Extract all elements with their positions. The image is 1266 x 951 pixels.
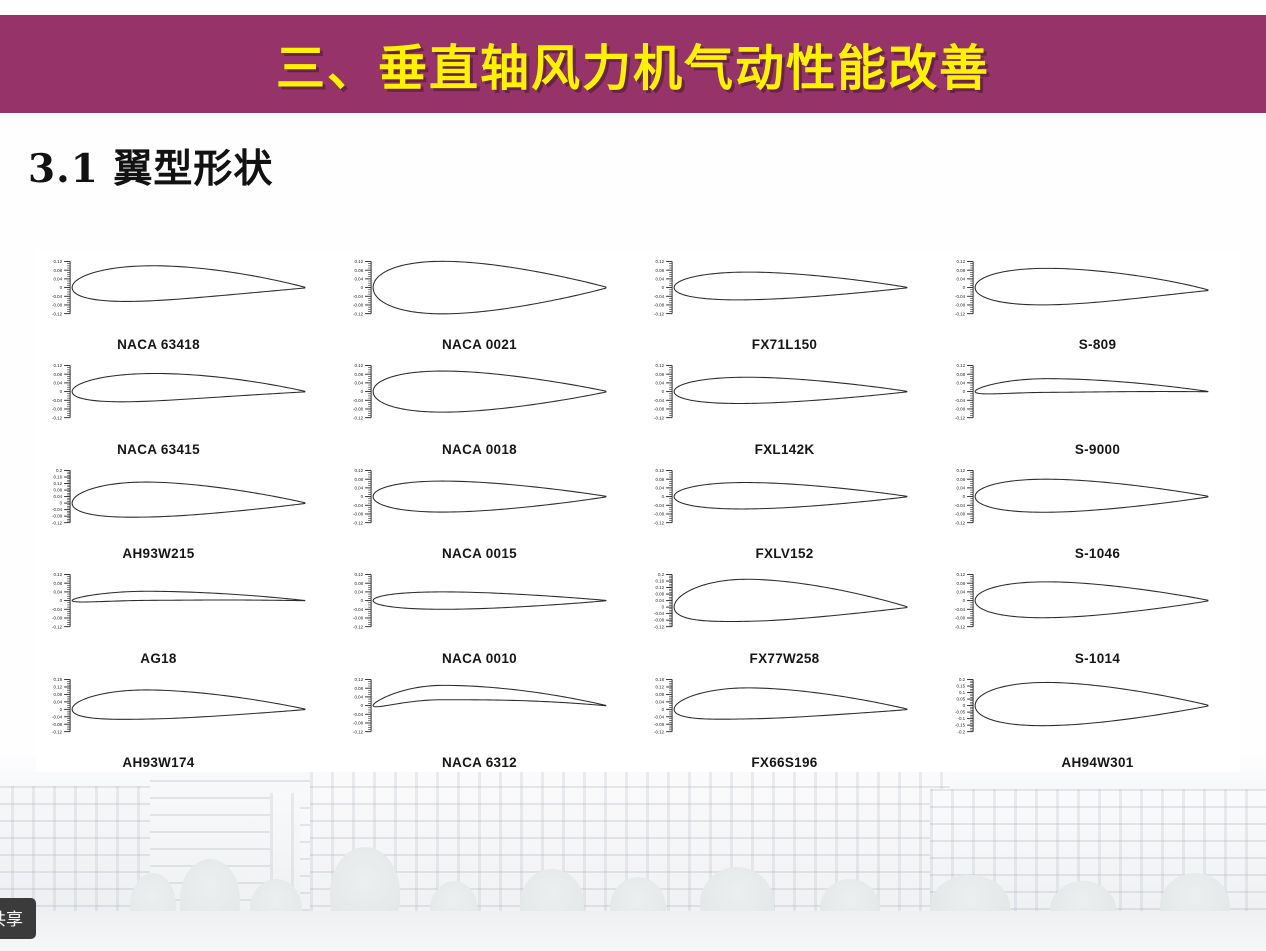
y-axis-tick-label: 0.12 <box>656 585 665 590</box>
y-axis-tick-label: 0.2 <box>959 677 966 682</box>
airfoil-label: NACA 0015 <box>329 546 630 561</box>
airfoil-cell: 0.160.120.080.040-0.04-0.08-0.12AH93W174 <box>36 668 337 772</box>
airfoil-label: NACA 0010 <box>329 651 630 666</box>
y-axis-tick-label: -0.08 <box>52 407 63 412</box>
y-axis-tick-label: 0 <box>963 285 966 290</box>
y-axis-tick-label: -0.04 <box>353 398 364 403</box>
y-axis-tick-label: -0.12 <box>353 520 364 525</box>
airfoil-cell: 0.20.160.120.080.040-0.04-0.08-0.12AH93W… <box>36 459 337 563</box>
y-axis-tick-label: -0.12 <box>52 311 63 316</box>
y-axis-tick-label: 0.08 <box>957 477 966 482</box>
y-axis-tick-label: -0.08 <box>353 407 364 412</box>
y-axis-tick-label: -0.12 <box>353 729 364 734</box>
y-axis-tick-label: -0.08 <box>955 616 966 621</box>
airfoil-cell: 0.120.080.040-0.04-0.08-0.12NACA 63415 <box>36 354 337 458</box>
y-axis-tick-label: 0.08 <box>957 581 966 586</box>
airfoil-profile-plot: 0.120.080.040-0.04-0.08-0.12 <box>939 563 1240 638</box>
y-axis-tick-label: 0.12 <box>54 259 63 264</box>
y-axis-tick-label: -0.12 <box>52 624 63 629</box>
y-axis-tick-label: 0 <box>361 285 364 290</box>
y-axis-tick-label: 0.08 <box>656 372 665 377</box>
y-axis-tick-label: 0.2 <box>658 572 665 577</box>
y-axis-tick-label: 0.04 <box>957 485 966 490</box>
y-axis-tick-label: -0.12 <box>654 729 665 734</box>
y-axis-tick-label: -0.08 <box>52 721 63 726</box>
airfoil-outline <box>975 682 1208 725</box>
y-axis-tick-label: 0.08 <box>355 268 364 273</box>
y-axis-tick-label: -0.08 <box>353 511 364 516</box>
y-axis-tick-label: -0.12 <box>353 624 364 629</box>
y-axis-tick-label: 0 <box>60 598 63 603</box>
y-axis-tick-label: 0.04 <box>54 494 63 499</box>
y-axis-tick-label: 0.08 <box>355 372 364 377</box>
y-axis-tick-label: 0.12 <box>355 259 364 264</box>
y-axis-tick-label: -0.08 <box>52 616 63 621</box>
airfoil-cell: 0.120.080.040-0.04-0.08-0.12NACA 0010 <box>337 563 638 667</box>
y-axis-tick-label: 0.08 <box>54 487 63 492</box>
y-axis-tick-label: 0.04 <box>656 598 665 603</box>
y-axis-tick-label: -0.04 <box>654 398 665 403</box>
y-axis-tick-label: 0.15 <box>957 683 966 688</box>
y-axis-tick-label: -0.04 <box>52 607 63 612</box>
airfoil-outline <box>975 379 1208 394</box>
y-axis-tick-label: 0 <box>60 501 63 506</box>
airfoil-outline <box>975 268 1208 305</box>
airfoil-profile-plot: 0.120.080.040-0.04-0.08-0.12 <box>337 563 638 638</box>
y-axis-tick-label: -0.12 <box>654 311 665 316</box>
airfoil-cell: 0.20.150.10.050-0.05-0.1-0.15-0.2AH94W30… <box>939 668 1240 772</box>
y-axis-tick-label: 0.2 <box>56 468 63 473</box>
y-axis-tick-label: 0 <box>361 598 364 603</box>
y-axis-tick-label: -0.08 <box>654 407 665 412</box>
slide-header-bar: 三、垂直轴风力机气动性能改善 <box>0 15 1266 113</box>
y-axis-tick-label: 0.04 <box>957 276 966 281</box>
y-axis-tick-label: -0.12 <box>52 520 63 525</box>
y-axis-tick-label: 0.12 <box>656 363 665 368</box>
airfoil-profile-plot: 0.120.080.040-0.04-0.08-0.12 <box>939 250 1240 325</box>
y-axis-tick-label: -0.12 <box>654 520 665 525</box>
airfoil-cell: 0.120.080.040-0.04-0.08-0.12NACA 63418 <box>36 250 337 354</box>
airfoil-outline <box>373 261 606 314</box>
y-axis-tick-label: -0.1 <box>957 716 965 721</box>
y-axis-tick-label: -0.12 <box>353 416 364 421</box>
y-axis-tick-label: 0.05 <box>957 696 966 701</box>
section-heading: 3.1 翼型形状 <box>28 138 273 194</box>
airfoil-profile-plot: 0.120.080.040-0.04-0.08-0.12 <box>939 459 1240 534</box>
airfoil-cell: 0.120.080.040-0.04-0.08-0.12NACA 0021 <box>337 250 638 354</box>
y-axis-tick-label: 0.08 <box>54 581 63 586</box>
airfoil-label: NACA 0021 <box>329 337 630 352</box>
y-axis-tick-label: 0.08 <box>656 692 665 697</box>
airfoil-profile-plot: 0.120.080.040-0.04-0.08-0.12 <box>638 354 939 429</box>
y-axis-tick-label: 0.08 <box>656 592 665 597</box>
y-axis-tick-label: -0.08 <box>654 618 665 623</box>
airfoil-outline <box>674 378 907 404</box>
y-axis-tick-label: -0.04 <box>654 503 665 508</box>
y-axis-tick-label: -0.04 <box>654 294 665 299</box>
y-axis-tick-label: -0.04 <box>955 398 966 403</box>
airfoil-label: S-809 <box>947 337 1248 352</box>
y-axis-tick-label: 0.12 <box>957 468 966 473</box>
airfoil-label: FX71L150 <box>634 337 935 352</box>
y-axis-tick-label: 0.08 <box>957 372 966 377</box>
slide-canvas: 三、垂直轴风力机气动性能改善 3.1 翼型形状 0.120.080.040-0.… <box>0 0 1266 951</box>
y-axis-tick-label: 0.08 <box>355 581 364 586</box>
y-axis-tick-label: 0.12 <box>355 677 364 682</box>
airfoil-cell: 0.120.080.040-0.04-0.08-0.12FXL142K <box>638 354 939 458</box>
y-axis-tick-label: -0.08 <box>52 303 63 308</box>
y-axis-tick-label: -0.04 <box>353 711 364 716</box>
airfoil-profile-plot: 0.20.150.10.050-0.05-0.1-0.15-0.2 <box>939 668 1240 743</box>
airfoil-outline <box>373 481 606 512</box>
y-axis-tick-label: 0 <box>60 390 63 395</box>
y-axis-tick-label: 0.12 <box>656 259 665 264</box>
airfoil-label: AH93W215 <box>8 546 309 561</box>
y-axis-tick-label: 0.04 <box>54 276 63 281</box>
y-axis-tick-label: 0.08 <box>54 692 63 697</box>
airfoil-profile-plot: 0.20.160.120.080.040-0.04-0.08-0.12 <box>36 459 337 534</box>
y-axis-tick-label: -0.04 <box>654 714 665 719</box>
y-axis-tick-label: 0.12 <box>355 363 364 368</box>
y-axis-tick-label: 0.12 <box>54 363 63 368</box>
airfoil-label: S-1014 <box>947 651 1248 666</box>
airfoil-cell: 0.120.080.040-0.04-0.08-0.12NACA 0015 <box>337 459 638 563</box>
y-axis-tick-label: 0.16 <box>656 579 665 584</box>
airfoil-profile-plot: 0.160.120.080.040-0.04-0.08-0.12 <box>36 668 337 743</box>
y-axis-tick-label: 0 <box>361 390 364 395</box>
y-axis-tick-label: -0.12 <box>955 624 966 629</box>
screen-share-notice: 电的屏幕共享 <box>0 898 36 939</box>
y-axis-tick-label: -0.12 <box>654 416 665 421</box>
y-axis-tick-label: -0.08 <box>353 616 364 621</box>
y-axis-tick-label: 0.04 <box>355 485 364 490</box>
y-axis-tick-label: 0 <box>662 707 665 712</box>
airfoil-cell: 0.120.080.040-0.04-0.08-0.12S-9000 <box>939 354 1240 458</box>
airfoil-cell: 0.120.080.040-0.04-0.08-0.12S-1046 <box>939 459 1240 563</box>
airfoil-outline <box>674 272 907 300</box>
page-title: 三、垂直轴风力机气动性能改善 <box>276 29 990 100</box>
airfoil-profile-plot: 0.120.080.040-0.04-0.08-0.12 <box>337 354 638 429</box>
y-axis-tick-label: -0.08 <box>654 721 665 726</box>
y-axis-tick-label: -0.04 <box>52 294 63 299</box>
y-axis-tick-label: 0.04 <box>355 276 364 281</box>
y-axis-tick-label: -0.08 <box>353 303 364 308</box>
y-axis-tick-label: -0.08 <box>955 511 966 516</box>
y-axis-tick-label: -0.08 <box>654 511 665 516</box>
y-axis-tick-label: 0.12 <box>656 684 665 689</box>
airfoil-outline <box>674 687 907 718</box>
airfoil-cell: 0.120.080.040-0.04-0.08-0.12FXLV152 <box>638 459 939 563</box>
y-axis-tick-label: 0.08 <box>355 685 364 690</box>
y-axis-tick-label: 0 <box>662 605 665 610</box>
airfoil-outline <box>975 479 1208 512</box>
y-axis-tick-label: 0 <box>963 703 966 708</box>
y-axis-tick-label: -0.04 <box>955 294 966 299</box>
airfoil-label: S-9000 <box>947 442 1248 457</box>
airfoil-label: NACA 0018 <box>329 442 630 457</box>
airfoil-profile-plot: 0.160.120.080.040-0.04-0.08-0.12 <box>638 668 939 743</box>
y-axis-tick-label: -0.12 <box>353 311 364 316</box>
y-axis-tick-label: 0.08 <box>656 268 665 273</box>
airfoil-outline <box>373 371 606 412</box>
y-axis-tick-label: -0.04 <box>52 507 63 512</box>
airfoil-cell: 0.120.080.040-0.04-0.08-0.12NACA 6312 <box>337 668 638 772</box>
y-axis-tick-label: 0 <box>662 494 665 499</box>
airfoil-cell: 0.160.120.080.040-0.04-0.08-0.12FX66S196 <box>638 668 939 772</box>
y-axis-tick-label: -0.12 <box>52 729 63 734</box>
y-axis-tick-label: -0.08 <box>654 303 665 308</box>
y-axis-tick-label: -0.04 <box>52 714 63 719</box>
y-axis-tick-label: 0.12 <box>656 468 665 473</box>
airfoil-outline <box>373 685 606 706</box>
y-axis-tick-label: 0.12 <box>54 481 63 486</box>
y-axis-tick-label: 0.04 <box>355 381 364 386</box>
y-axis-tick-label: 0 <box>963 390 966 395</box>
airfoil-label: NACA 6312 <box>329 755 630 770</box>
y-axis-tick-label: -0.04 <box>654 611 665 616</box>
y-axis-tick-label: -0.04 <box>955 607 966 612</box>
y-axis-tick-label: -0.04 <box>353 294 364 299</box>
y-axis-tick-label: 0.04 <box>656 276 665 281</box>
airfoil-profile-plot: 0.120.080.040-0.04-0.08-0.12 <box>337 250 638 325</box>
y-axis-tick-label: 0.08 <box>54 268 63 273</box>
y-axis-tick-label: -0.12 <box>955 416 966 421</box>
airfoil-label: AG18 <box>8 651 309 666</box>
y-axis-tick-label: 0 <box>963 494 966 499</box>
y-axis-tick-label: -0.08 <box>955 407 966 412</box>
y-axis-tick-label: 0 <box>963 598 966 603</box>
airfoil-outline <box>72 266 305 302</box>
y-axis-tick-label: 0.16 <box>656 677 665 682</box>
y-axis-tick-label: -0.12 <box>955 311 966 316</box>
airfoil-label: AH93W174 <box>8 755 309 770</box>
airfoil-profile-plot: 0.120.080.040-0.04-0.08-0.12 <box>638 250 939 325</box>
y-axis-tick-label: 0.12 <box>957 572 966 577</box>
airfoil-label: FX77W258 <box>634 651 935 666</box>
airfoil-outline <box>72 591 305 602</box>
airfoil-outline <box>72 374 305 402</box>
ground-band <box>0 911 1266 951</box>
airfoil-profile-plot: 0.120.080.040-0.04-0.08-0.12 <box>36 354 337 429</box>
y-axis-tick-label: -0.04 <box>955 503 966 508</box>
y-axis-tick-label: 0 <box>662 285 665 290</box>
airfoil-outline <box>72 482 305 517</box>
airfoil-grid: 0.120.080.040-0.04-0.08-0.12NACA 634180.… <box>36 250 1240 772</box>
y-axis-tick-label: -0.08 <box>353 720 364 725</box>
y-axis-tick-label: 0.12 <box>355 572 364 577</box>
y-axis-tick-label: 0.04 <box>957 381 966 386</box>
airfoil-label: NACA 63418 <box>8 337 309 352</box>
airfoil-cell: 0.120.080.040-0.04-0.08-0.12AG18 <box>36 563 337 667</box>
airfoil-outline <box>674 579 907 621</box>
airfoil-outline <box>72 690 305 719</box>
y-axis-tick-label: 0.08 <box>656 477 665 482</box>
airfoil-label: FX66S196 <box>634 755 935 770</box>
y-axis-tick-label: 0.16 <box>54 474 63 479</box>
y-axis-tick-label: 0 <box>662 390 665 395</box>
airfoil-label: FXL142K <box>634 442 935 457</box>
y-axis-tick-label: -0.12 <box>654 624 665 629</box>
y-axis-tick-label: 0.04 <box>656 485 665 490</box>
airfoil-label: AH94W301 <box>947 755 1248 770</box>
y-axis-tick-label: 0 <box>60 285 63 290</box>
y-axis-tick-label: -0.04 <box>353 503 364 508</box>
y-axis-tick-label: -0.12 <box>955 520 966 525</box>
airfoil-label: FXLV152 <box>634 546 935 561</box>
y-axis-tick-label: -0.05 <box>955 709 966 714</box>
airfoil-figure-card: 0.120.080.040-0.04-0.08-0.12NACA 634180.… <box>36 250 1240 772</box>
y-axis-tick-label: -0.15 <box>955 722 966 727</box>
y-axis-tick-label: 0.08 <box>54 372 63 377</box>
airfoil-profile-plot: 0.120.080.040-0.04-0.08-0.12 <box>337 668 638 743</box>
y-axis-tick-label: -0.08 <box>955 303 966 308</box>
y-axis-tick-label: 0.04 <box>656 699 665 704</box>
y-axis-tick-label: -0.12 <box>52 416 63 421</box>
y-axis-tick-label: 0.08 <box>957 268 966 273</box>
y-axis-tick-label: -0.04 <box>353 607 364 612</box>
y-axis-tick-label: -0.08 <box>52 514 63 519</box>
airfoil-cell: 0.120.080.040-0.04-0.08-0.12S-809 <box>939 250 1240 354</box>
y-axis-tick-label: -0.2 <box>957 729 965 734</box>
y-axis-tick-label: 0.08 <box>355 477 364 482</box>
y-axis-tick-label: 0.04 <box>656 381 665 386</box>
y-axis-tick-label: 0.12 <box>54 572 63 577</box>
y-axis-tick-label: -0.04 <box>52 398 63 403</box>
y-axis-tick-label: 0.1 <box>959 690 966 695</box>
airfoil-cell: 0.20.160.120.080.040-0.04-0.08-0.12FX77W… <box>638 563 939 667</box>
y-axis-tick-label: 0.16 <box>54 677 63 682</box>
airfoil-cell: 0.120.080.040-0.04-0.08-0.12FX71L150 <box>638 250 939 354</box>
airfoil-outline <box>975 582 1208 618</box>
y-axis-tick-label: 0.04 <box>54 590 63 595</box>
y-axis-tick-label: 0.12 <box>957 259 966 264</box>
airfoil-cell: 0.120.080.040-0.04-0.08-0.12S-1014 <box>939 563 1240 667</box>
y-axis-tick-label: 0.04 <box>957 590 966 595</box>
airfoil-label: S-1046 <box>947 546 1248 561</box>
y-axis-tick-label: 0 <box>60 707 63 712</box>
campus-photo-backdrop <box>0 756 1266 951</box>
y-axis-tick-label: 0.12 <box>54 684 63 689</box>
airfoil-cell: 0.120.080.040-0.04-0.08-0.12NACA 0018 <box>337 354 638 458</box>
y-axis-tick-label: 0.04 <box>355 694 364 699</box>
airfoil-label: NACA 63415 <box>8 442 309 457</box>
airfoil-profile-plot: 0.120.080.040-0.04-0.08-0.12 <box>638 459 939 534</box>
y-axis-tick-label: 0.04 <box>54 699 63 704</box>
y-axis-tick-label: 0.12 <box>355 468 364 473</box>
airfoil-profile-plot: 0.120.080.040-0.04-0.08-0.12 <box>939 354 1240 429</box>
airfoil-outline <box>674 482 907 508</box>
airfoil-outline <box>373 592 606 609</box>
airfoil-profile-plot: 0.120.080.040-0.04-0.08-0.12 <box>36 563 337 638</box>
airfoil-profile-plot: 0.20.160.120.080.040-0.04-0.08-0.12 <box>638 563 939 638</box>
airfoil-profile-plot: 0.120.080.040-0.04-0.08-0.12 <box>337 459 638 534</box>
y-axis-tick-label: 0 <box>361 703 364 708</box>
y-axis-tick-label: 0.04 <box>355 590 364 595</box>
y-axis-tick-label: 0.04 <box>54 381 63 386</box>
y-axis-tick-label: 0 <box>361 494 364 499</box>
y-axis-tick-label: 0.12 <box>957 363 966 368</box>
airfoil-profile-plot: 0.120.080.040-0.04-0.08-0.12 <box>36 250 337 325</box>
